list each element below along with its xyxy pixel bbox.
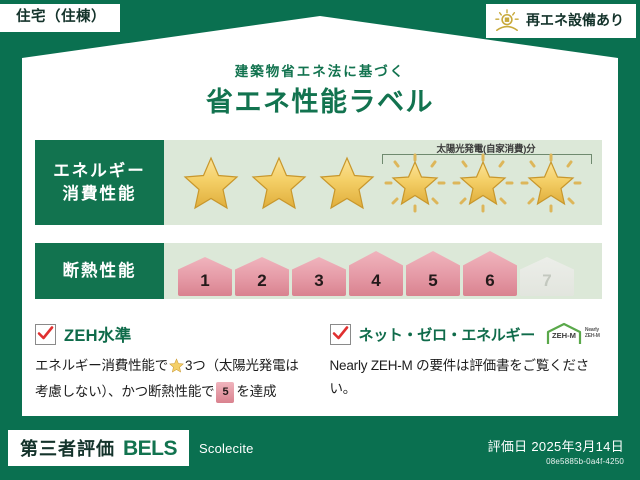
zeh-criterion-header: ZEH水準 [35,322,308,346]
zeh-m-logo: ZEH-M Nearly ZEH-M [545,322,600,346]
insulation-grade-6: 6 [463,251,517,296]
insulation-grade-7: 7 [520,257,574,296]
house-outline-icon: ZEH-M [545,322,583,346]
star-2 [246,152,312,214]
label-subtitle: 建築物省エネ法に基づく [0,60,640,80]
svg-text:ZEH-M: ZEH-M [552,331,576,340]
energy-label-line2: 消費性能 [63,183,137,205]
insulation-grade-1: 1 [178,257,232,296]
evaluation-date: 評価日 2025年3月14日 [488,436,624,455]
zeh-m-sub-line2: ZEH-M [585,333,600,339]
energy-performance-label: エネルギー 消費性能 [35,140,164,225]
star-4-solar [382,152,448,214]
energy-star-rating [164,152,584,214]
energy-performance-label: 住宅（住棟） 再エネ設備あり 建築物省エネ法に基づく 省エネ性能ラベル [0,0,640,480]
label-title: 省エネ性能ラベル [0,80,640,119]
renewable-badge-label: 再エネ設備あり [526,13,624,28]
zeh-criterion: ZEH水準 エネルギー消費性能で3つ（太陽光発電は考慮しない）、かつ断熱性能で5… [35,322,308,403]
bels-footer: 第三者評価 BELS Scolecite [8,430,254,466]
criteria-section: ZEH水準 エネルギー消費性能で3つ（太陽光発電は考慮しない）、かつ断熱性能で5… [35,322,602,403]
net-zero-checkbox[interactable] [330,324,351,345]
insulation-grade-3: 3 [292,257,346,296]
check-icon [37,325,54,342]
operator-name: Scolecite [199,441,254,456]
insulation-grade-scale: 1 2 3 4 5 6 7 [164,240,574,302]
check-icon [332,325,349,342]
star-5-solar [450,152,516,214]
net-zero-criterion-header: ネット・ゼロ・エネルギー ZEH-M Nearly ZEH-M [330,322,603,346]
energy-performance-row: エネルギー 消費性能 太陽光発電(自家消費)分 [35,140,602,225]
evaluation-date-block: 評価日 2025年3月14日 08e5885b-0a4f-4250 [488,436,624,466]
insulation-grade-4: 4 [349,251,403,296]
zeh-checkbox[interactable] [35,324,56,345]
net-zero-criterion-text: Nearly ZEH-M の要件は評価書をご覧ください。 [330,354,603,400]
renewable-equipment-badge: 再エネ設備あり [486,4,636,38]
sun-solar-icon [494,9,520,33]
insulation-grade-2: 2 [235,257,289,296]
zeh-text-part3: を達成 [236,384,276,399]
energy-rating-body: 太陽光発電(自家消費)分 [164,140,602,225]
star-1 [178,152,244,214]
zeh-m-logo-subtext: Nearly ZEH-M [585,328,600,340]
bels-logo-box: 第三者評価 BELS [8,430,189,466]
third-party-evaluation-label: 第三者評価 [20,435,115,461]
zeh-criterion-title: ZEH水準 [64,322,132,346]
inline-star-icon [169,357,184,380]
insulation-performance-row: 断熱性能 1 2 3 4 5 6 7 [35,243,602,299]
zeh-grade-badge: 5 [216,382,234,403]
bels-label: BELS [123,437,177,461]
net-zero-criterion-title: ネット・ゼロ・エネルギー [359,324,535,345]
energy-label-line1: エネルギー [53,160,146,182]
building-type-tag: 住宅（住棟） [0,4,120,32]
zeh-criterion-text: エネルギー消費性能で3つ（太陽光発電は考慮しない）、かつ断熱性能で5を達成 [35,354,308,403]
insulation-label-text: 断熱性能 [63,260,137,282]
star-6-solar [518,152,584,214]
zeh-text-part1: エネルギー消費性能で [35,358,168,373]
insulation-performance-label: 断熱性能 [35,243,164,299]
net-zero-criterion: ネット・ゼロ・エネルギー ZEH-M Nearly ZEH-M Nearly Z… [330,322,603,403]
insulation-grade-5: 5 [406,251,460,296]
document-id: 08e5885b-0a4f-4250 [488,457,624,466]
insulation-rating-body: 1 2 3 4 5 6 7 [164,243,602,299]
star-3 [314,152,380,214]
